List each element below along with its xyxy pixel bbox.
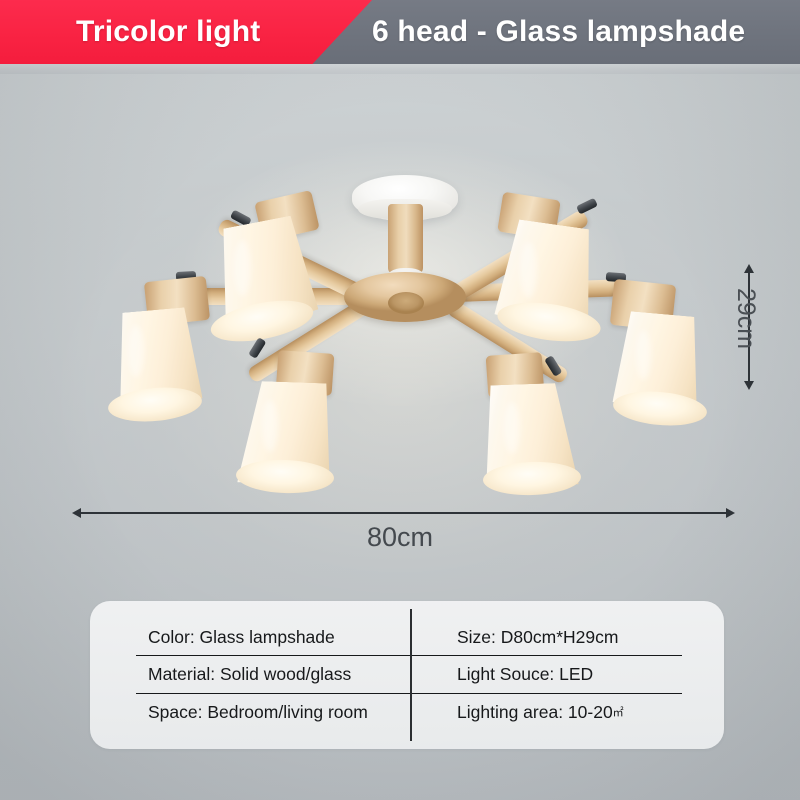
- lamp-shade-highlight-left: [128, 325, 144, 377]
- arrow-tip-bottom: [744, 381, 754, 390]
- arrow-line-horizontal: [79, 512, 728, 514]
- lamp-shade-highlight-lower-left: [262, 400, 278, 452]
- width-dimension-arrow: [72, 512, 735, 514]
- lamp-center-hub: [344, 272, 466, 322]
- spec-cell-lighting-area: Lighting area: 10-20㎡: [409, 694, 682, 731]
- banner-right-label: 6 head - Glass lampshade: [372, 0, 745, 64]
- arrow-tip-right: [726, 508, 735, 518]
- lamp-shade-highlight-lower-right: [504, 402, 520, 454]
- spec-cell-material: Material: Solid wood/glass: [136, 656, 409, 693]
- lamp-joint-upper-right: [576, 198, 598, 215]
- width-dimension-label: 80cm: [0, 522, 800, 553]
- product-image-canvas: 80cm 29cm Color: Glass lampshade Size: D…: [0, 0, 800, 800]
- specifications-column-divider: [410, 609, 412, 741]
- lamp-shade-highlight-right: [636, 330, 651, 380]
- specifications-table: Color: Glass lampshade Size: D80cm*H29cm…: [136, 619, 682, 731]
- specifications-panel: Color: Glass lampshade Size: D80cm*H29cm…: [90, 601, 724, 749]
- lamp-center-stem: [388, 204, 423, 274]
- spec-lighting-area-unit: ㎡: [613, 704, 624, 720]
- spec-cell-size: Size: D80cm*H29cm: [409, 619, 682, 656]
- lamp-shade-highlight-upper-left: [234, 240, 251, 296]
- banner-left-label: Tricolor light: [76, 0, 260, 64]
- top-banner: Tricolor light 6 head - Glass lampshade: [0, 0, 800, 64]
- spec-cell-light-source: Light Souce: LED: [409, 656, 682, 693]
- lamp-shade-highlight-upper-right: [520, 242, 537, 298]
- spec-lighting-area-text: Lighting area: 10-20: [457, 702, 613, 723]
- spec-cell-color: Color: Glass lampshade: [136, 619, 409, 656]
- height-dimension-label: 29cm: [731, 288, 760, 349]
- spec-cell-space: Space: Bedroom/living room: [136, 694, 409, 731]
